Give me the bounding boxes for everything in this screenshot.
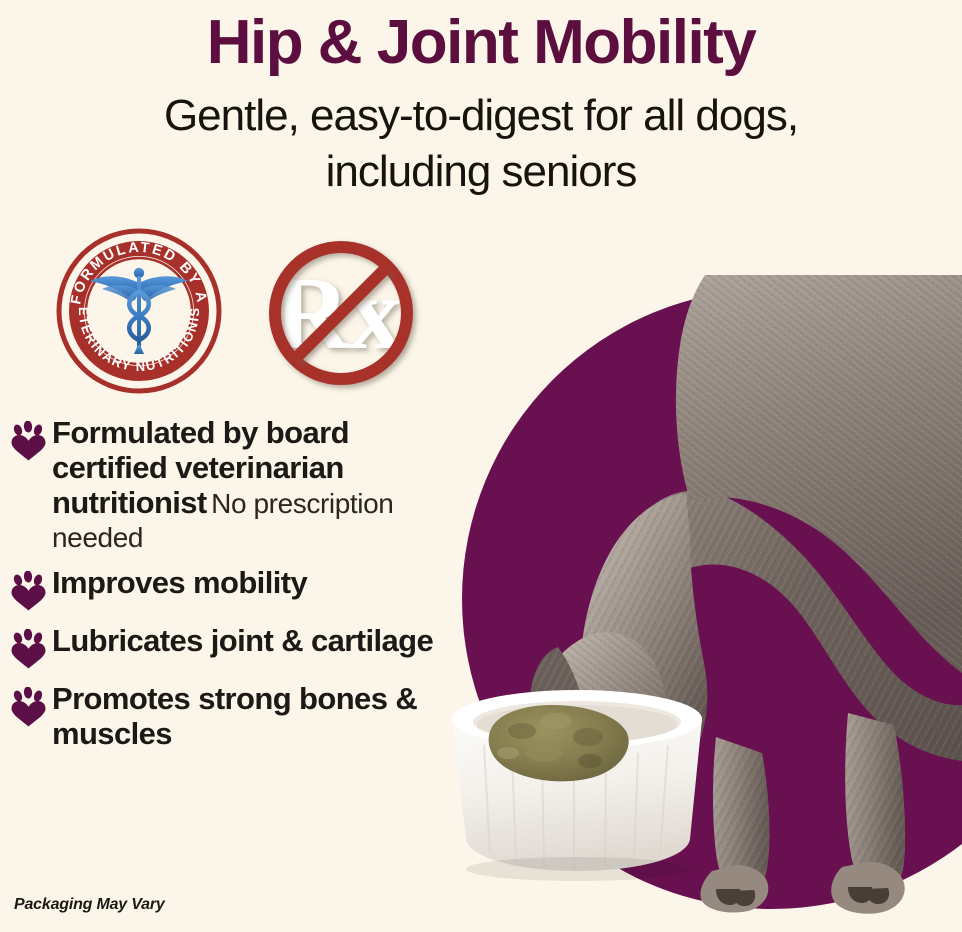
paw-print-icon xyxy=(8,687,52,729)
list-item: Improves mobility xyxy=(8,565,460,613)
list-item-text: Improves mobility xyxy=(52,565,460,600)
list-item-title: Lubricates joint & cartilage xyxy=(52,623,433,658)
list-item-title: Promotes strong bones & muscles xyxy=(52,681,417,751)
no-prescription-badge: Rx xyxy=(260,232,422,394)
subheading: Gentle, easy-to-digest for all dogs, inc… xyxy=(24,88,938,200)
list-item-title: Improves mobility xyxy=(52,565,307,600)
benefits-list: Formulated by board certified veterinari… xyxy=(8,415,460,761)
list-item-text: Lubricates joint & cartilage xyxy=(52,623,460,658)
paw-print-icon xyxy=(8,571,52,613)
badge-row: FORMULATED BY A VETERINARY NUTRITIONIST xyxy=(48,222,438,402)
subheading-line-1: Gentle, easy-to-digest for all dogs, xyxy=(24,88,938,144)
veterinary-nutritionist-seal: FORMULATED BY A VETERINARY NUTRITIONIST xyxy=(54,226,224,396)
subheading-line-2: including seniors xyxy=(24,144,938,200)
dog-eating-illustration xyxy=(440,275,962,932)
packaging-disclaimer: Packaging May Vary xyxy=(14,896,165,914)
list-item-text: Promotes strong bones & muscles xyxy=(52,681,460,751)
list-item: Lubricates joint & cartilage xyxy=(8,623,460,671)
promo-image-root: Hip & Joint Mobility Gentle, easy-to-dig… xyxy=(0,0,962,932)
list-item-text: Formulated by board certified veterinari… xyxy=(52,415,460,555)
paw-print-icon xyxy=(8,421,52,463)
page-title: Hip & Joint Mobility xyxy=(0,6,962,80)
product-photo xyxy=(440,275,962,932)
list-item: Promotes strong bones & muscles xyxy=(8,681,460,751)
paw-print-icon xyxy=(8,629,52,671)
list-item: Formulated by board certified veterinari… xyxy=(8,415,460,555)
